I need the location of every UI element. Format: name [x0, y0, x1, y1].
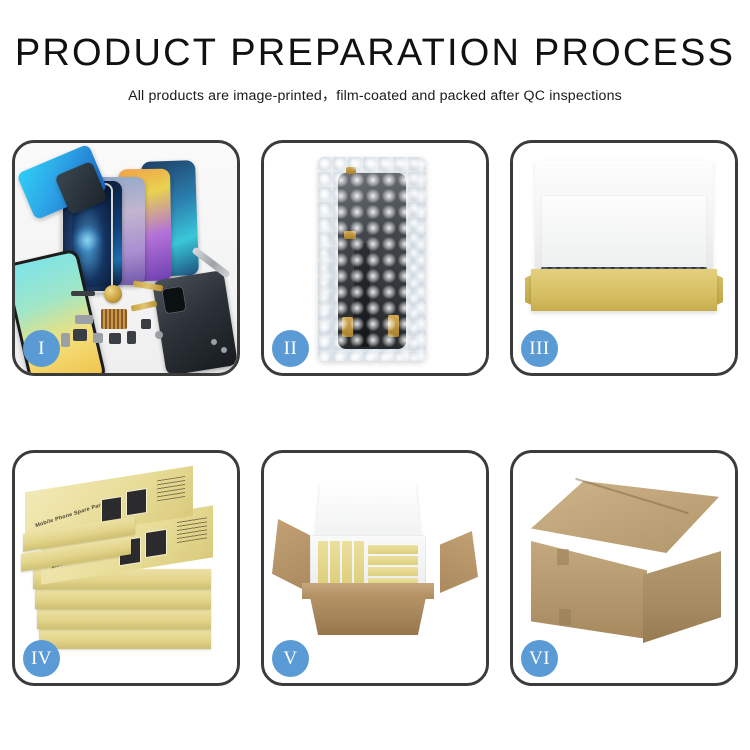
gold-tab-1	[346, 167, 356, 174]
process-step-panel-5: V	[261, 450, 489, 686]
page-header: PRODUCT PREPARATION PROCESS All products…	[0, 0, 750, 105]
wrapped-flex-strip	[354, 243, 370, 347]
earpiece-speaker-part	[71, 291, 95, 296]
process-step-panel-6: VI	[510, 450, 738, 686]
carton-tape-upper	[557, 549, 569, 565]
step-badge-4: IV	[23, 640, 60, 677]
process-step-panel-1: I	[12, 140, 240, 376]
process-step-panel-4: Mobile Phone Spare Parts Mobile Phone Sp…	[12, 450, 240, 686]
retail-box-stack-4	[35, 589, 211, 609]
step-badge-5: V	[272, 640, 309, 677]
retail-box-spec-text-2	[177, 516, 207, 543]
step-badge-6: VI	[521, 640, 558, 677]
process-step-panel-3: III	[510, 140, 738, 376]
step-badge-3: III	[521, 330, 558, 367]
foam-front-face	[541, 195, 707, 271]
small-component-7	[141, 319, 151, 329]
chip-board-part	[101, 309, 127, 329]
packed-box-5	[368, 545, 418, 554]
phone-back-housing	[152, 270, 237, 373]
packed-box-1	[318, 541, 328, 583]
retail-box-window-1b	[126, 488, 147, 516]
screw-part-2	[211, 339, 217, 345]
bubble-wrap-package	[318, 157, 426, 361]
carton-front-face	[304, 593, 432, 635]
page-subtitle: All products are image-printed，film-coat…	[0, 85, 750, 105]
step-badge-2: II	[272, 330, 309, 367]
step-badge-1: I	[23, 330, 60, 367]
retail-box-stack-6	[39, 629, 211, 649]
gold-tab-2	[344, 231, 356, 239]
gold-tab-4	[388, 315, 399, 337]
packed-box-6	[368, 556, 418, 565]
small-component-1	[75, 315, 93, 324]
screw-part-1	[155, 331, 163, 339]
retail-box-spec-text-1	[157, 476, 185, 501]
packed-box-2	[330, 541, 340, 583]
small-component-5	[127, 331, 136, 344]
packed-box-3	[342, 541, 352, 583]
vibration-motor-part	[104, 285, 122, 303]
retail-box-window-2b	[145, 529, 167, 558]
packed-box-7	[368, 567, 418, 576]
small-component-3	[93, 333, 103, 343]
small-component-2	[73, 329, 87, 341]
foam-lid-open	[315, 482, 422, 542]
yellow-kraft-box-body	[531, 269, 717, 311]
screw-part-3	[221, 347, 227, 353]
small-component-6	[61, 333, 70, 347]
process-step-panel-2: II	[261, 140, 489, 376]
page-title: PRODUCT PREPARATION PROCESS	[0, 34, 750, 74]
gold-tab-3	[342, 317, 353, 337]
small-component-4	[109, 333, 121, 344]
packed-box-4	[354, 541, 364, 583]
process-step-grid: I II III	[12, 140, 738, 686]
retail-box-stack-5	[37, 609, 211, 629]
carton-tape-lower	[559, 609, 571, 625]
